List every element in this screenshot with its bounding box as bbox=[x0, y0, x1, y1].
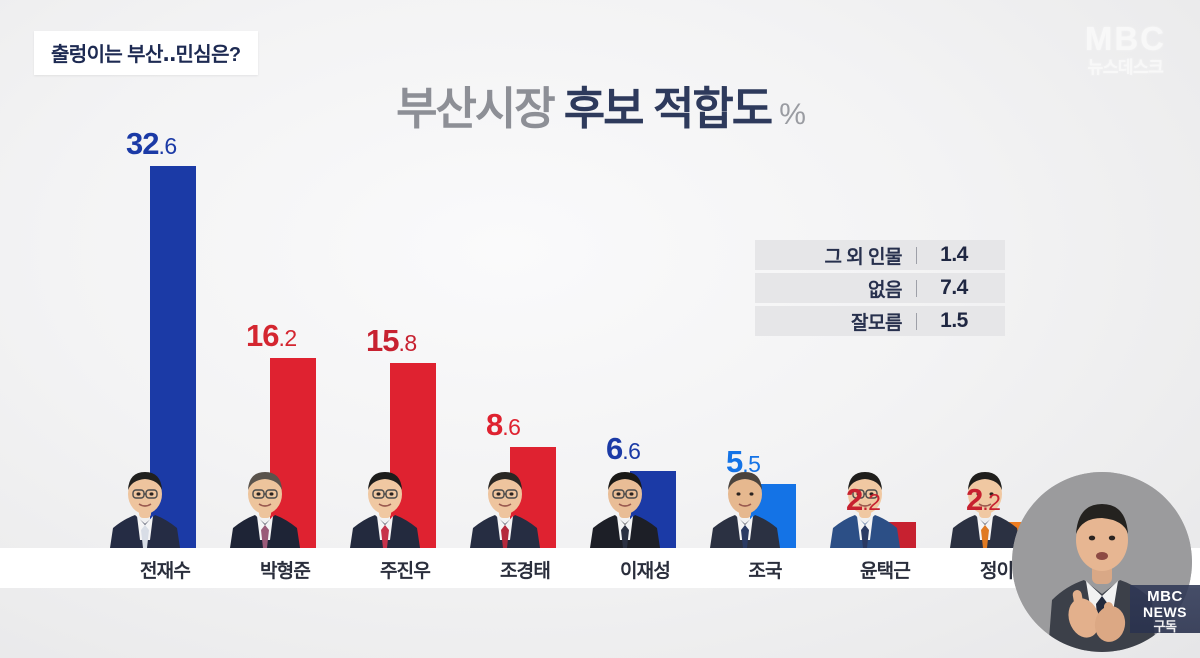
bar-value-decimal: .6 bbox=[622, 438, 640, 464]
candidate-photo-조국 bbox=[708, 472, 782, 548]
candidate-name-전재수: 전재수 bbox=[112, 556, 218, 583]
bar-value-decimal: .2 bbox=[278, 325, 296, 351]
candidate-name-윤택근: 윤택근 bbox=[832, 556, 938, 583]
candidate-photo-이재성 bbox=[588, 472, 662, 548]
bar-value-whole: 5 bbox=[726, 444, 742, 479]
bar-column-조국: 5.5 bbox=[712, 0, 818, 548]
bar-column-전재수: 32.6 bbox=[112, 0, 218, 548]
bar-value-label: 32.6 bbox=[126, 128, 177, 159]
candidate-photo-박형준 bbox=[228, 472, 302, 548]
bar-value-whole: 2 bbox=[966, 482, 982, 517]
bar-value-label: 2.2 bbox=[846, 484, 880, 515]
candidate-photo-조경태 bbox=[468, 472, 542, 548]
bar-value-whole: 8 bbox=[486, 407, 502, 442]
bar-value-label: 6.6 bbox=[606, 433, 640, 464]
candidate-name-박형준: 박형준 bbox=[232, 556, 338, 583]
bar-column-박형준: 16.2 bbox=[232, 0, 338, 548]
candidate-name-조경태: 조경태 bbox=[472, 556, 578, 583]
candidate-name-주진우: 주진우 bbox=[352, 556, 458, 583]
bar-chart-plot-area: 32.616.215.88.66.65.52.22.2 bbox=[0, 0, 1200, 548]
bar-column-이재성: 6.6 bbox=[592, 0, 698, 548]
bar-value-decimal: .2 bbox=[982, 489, 1000, 515]
bar-value-whole: 2 bbox=[846, 482, 862, 517]
badge-brand-text: MBC bbox=[1130, 589, 1200, 605]
bar-value-decimal: .5 bbox=[742, 451, 760, 477]
bar-column-정이한: 2.2 bbox=[952, 0, 1058, 548]
bar-value-whole: 16 bbox=[246, 318, 278, 353]
bar-value-whole: 6 bbox=[606, 431, 622, 466]
bar-column-주진우: 15.8 bbox=[352, 0, 458, 548]
bar-value-whole: 32 bbox=[126, 126, 158, 161]
bar-value-label: 5.5 bbox=[726, 446, 760, 477]
bar-column-윤택근: 2.2 bbox=[832, 0, 938, 548]
candidate-name-이재성: 이재성 bbox=[592, 556, 698, 583]
bar-value-decimal: .8 bbox=[398, 330, 416, 356]
bar-value-whole: 15 bbox=[366, 323, 398, 358]
bar-value-label: 15.8 bbox=[366, 325, 417, 356]
broadcast-graphic-screen: 출렁이는 부산‥민심은? MBC 뉴스데스크 부산시장후보 적합도% 그 외 인… bbox=[0, 0, 1200, 658]
candidate-name-조국: 조국 bbox=[712, 556, 818, 583]
bar-value-label: 2.2 bbox=[966, 484, 1000, 515]
bar-value-decimal: .2 bbox=[862, 489, 880, 515]
bar-value-label: 8.6 bbox=[486, 409, 520, 440]
bar-value-decimal: .6 bbox=[158, 133, 176, 159]
mbc-news-subscribe-badge[interactable]: MBC NEWS 구독 bbox=[1130, 585, 1200, 633]
candidate-photo-전재수 bbox=[108, 472, 182, 548]
candidate-photo-주진우 bbox=[348, 472, 422, 548]
bar-column-조경태: 8.6 bbox=[472, 0, 578, 548]
bar-value-label: 16.2 bbox=[246, 320, 297, 351]
badge-subscribe-text: 구독 bbox=[1130, 620, 1200, 634]
badge-news-text: NEWS bbox=[1130, 605, 1200, 620]
bar-value-decimal: .6 bbox=[502, 414, 520, 440]
